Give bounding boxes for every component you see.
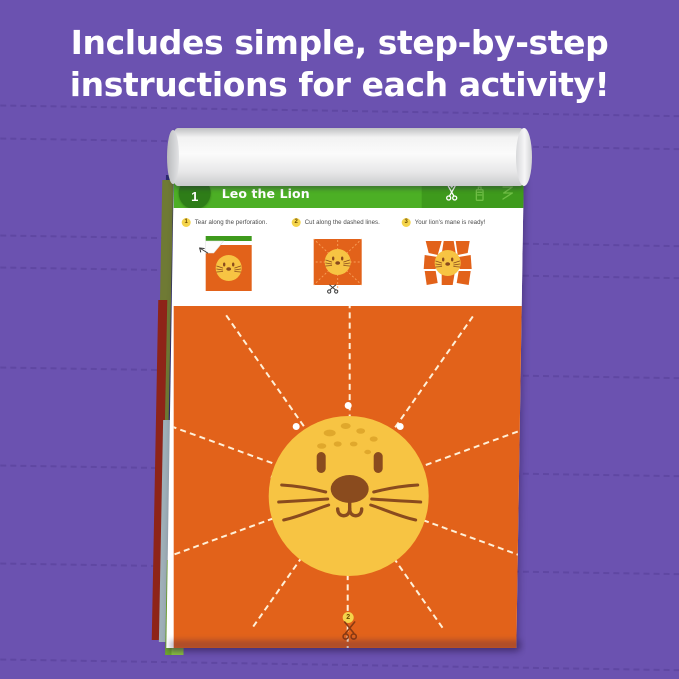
activity-sheet: Level 1 Leo the Lion [166, 178, 523, 648]
instruction-step: 1 Tear along the perforation. [182, 216, 292, 295]
banner-headline: Includes simple, step-by-step instructio… [0, 22, 679, 105]
lion-illustration [262, 406, 437, 578]
paper-roll-binding [170, 128, 528, 186]
step-text: Tear along the perforation. [195, 219, 268, 226]
step-text: Cut along the dashed lines. [305, 219, 380, 226]
product-image: Includes simple, step-by-step instructio… [0, 0, 679, 679]
scissors-icon [444, 184, 460, 202]
lion-nose [331, 475, 369, 503]
instruction-step: 2 Cut along the dashed lines. [292, 216, 402, 295]
step-number: 3 [402, 218, 411, 227]
activity-canvas: 2 [174, 306, 524, 648]
scissors-icon [341, 620, 359, 642]
sheet-shadow [170, 640, 522, 650]
glue-icon [472, 184, 488, 202]
lion-eye-left [317, 452, 326, 473]
level-number: 1 [191, 190, 198, 203]
lion-eye-right [374, 452, 383, 473]
step-thumbnail-3 [412, 233, 484, 295]
roll-end-right [516, 128, 532, 186]
instruction-panel: 1 Tear along the perforation. [174, 208, 524, 306]
instruction-step: 3 Your lion's mane is ready! [402, 216, 512, 295]
scissors-icon [328, 285, 338, 293]
background-dash-line [0, 104, 679, 118]
headline-line-1: Includes simple, step-by-step [0, 22, 679, 64]
fold-icon [500, 184, 516, 202]
headline-line-2: instructions for each activity! [0, 64, 679, 106]
step-thumbnail-1 [192, 233, 264, 295]
step-number: 2 [292, 218, 301, 227]
step-text: Your lion's mane is ready! [415, 219, 486, 226]
roll-end-left [167, 130, 179, 184]
step-number: 1 [182, 218, 191, 227]
background-dash-line [0, 658, 679, 672]
step-thumbnail-2 [302, 233, 374, 295]
